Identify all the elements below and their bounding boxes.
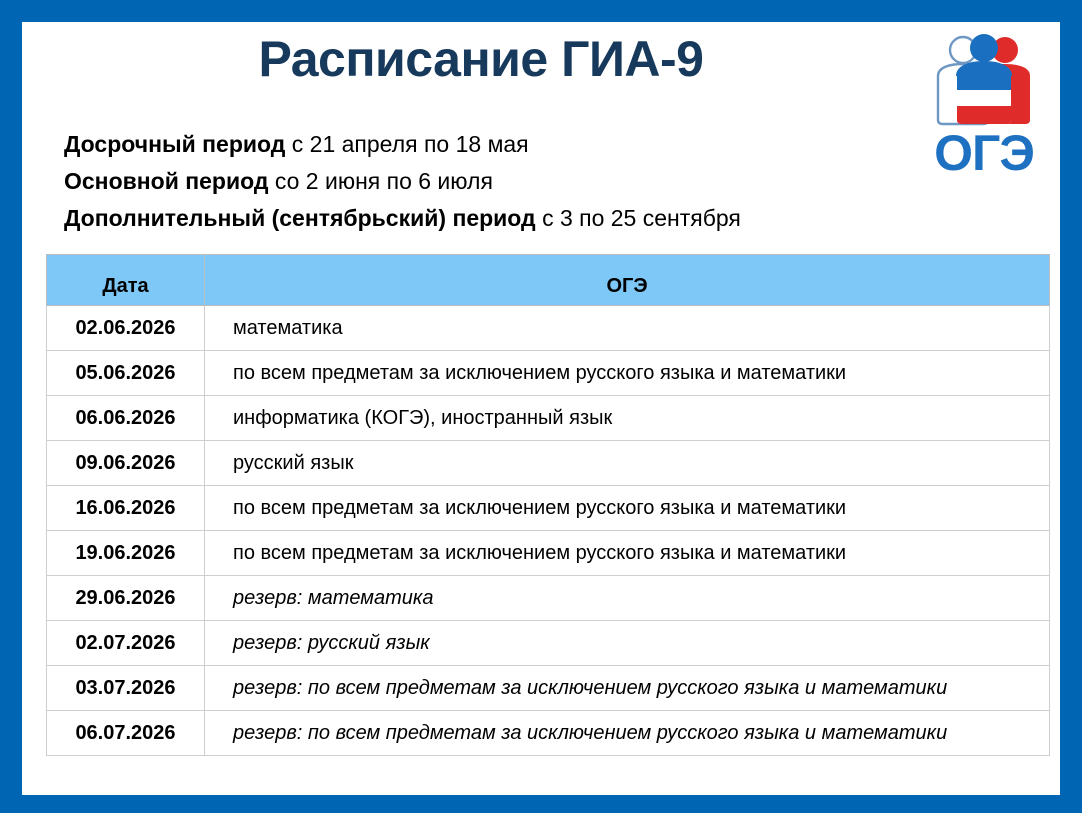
period-label: Дополнительный (сентябрьский) период	[64, 205, 536, 231]
cell-date: 16.06.2026	[47, 486, 205, 531]
period-line: Досрочный период с 21 апреля по 18 мая	[64, 126, 741, 163]
cell-date: 09.06.2026	[47, 441, 205, 486]
oge-wordmark: ОГЭ	[924, 124, 1044, 182]
period-label: Досрочный период	[64, 131, 285, 157]
cell-exam: резерв: по всем предметам за исключением…	[205, 711, 1050, 756]
table-row: 06.06.2026информатика (КОГЭ), иностранны…	[47, 396, 1050, 441]
cell-exam: информатика (КОГЭ), иностранный язык	[205, 396, 1050, 441]
cell-exam: русский язык	[205, 441, 1050, 486]
table-row: 19.06.2026по всем предметам за исключени…	[47, 531, 1050, 576]
period-value: со 2 июня по 6 июля	[275, 168, 493, 194]
table-row: 16.06.2026по всем предметам за исключени…	[47, 486, 1050, 531]
schedule-table: Дата ОГЭ 02.06.2026математика05.06.2026п…	[46, 254, 1050, 756]
table-body: 02.06.2026математика05.06.2026по всем пр…	[47, 306, 1050, 756]
periods-list: Досрочный период с 21 апреля по 18 мая О…	[64, 126, 741, 237]
cell-date: 19.06.2026	[47, 531, 205, 576]
oge-emblem-icon	[926, 28, 1042, 128]
period-line: Основной период со 2 июня по 6 июля	[64, 163, 741, 200]
cell-exam: математика	[205, 306, 1050, 351]
period-value: с 3 по 25 сентября	[542, 205, 741, 231]
cell-exam: резерв: русский язык	[205, 621, 1050, 666]
poster-root: Расписание ГИА-9 Досрочный период с 21 а…	[0, 0, 1082, 813]
poster-header: Расписание ГИА-9 Досрочный период с 21 а…	[22, 22, 1060, 250]
cell-date: 29.06.2026	[47, 576, 205, 621]
cell-date: 06.07.2026	[47, 711, 205, 756]
period-value: с 21 апреля по 18 мая	[292, 131, 529, 157]
cell-date: 02.07.2026	[47, 621, 205, 666]
table-row: 05.06.2026по всем предметам за исключени…	[47, 351, 1050, 396]
page-title: Расписание ГИА-9	[22, 30, 1060, 88]
table-row: 02.06.2026математика	[47, 306, 1050, 351]
table-row: 09.06.2026русский язык	[47, 441, 1050, 486]
schedule-table-wrap: Дата ОГЭ 02.06.2026математика05.06.2026п…	[46, 254, 1050, 756]
cell-exam: по всем предметам за исключением русског…	[205, 351, 1050, 396]
cell-exam: по всем предметам за исключением русског…	[205, 486, 1050, 531]
column-header-date: Дата	[47, 255, 205, 306]
period-line: Дополнительный (сентябрьский) период с 3…	[64, 200, 741, 237]
cell-exam: резерв: по всем предметам за исключением…	[205, 666, 1050, 711]
cell-date: 02.06.2026	[47, 306, 205, 351]
column-header-oge: ОГЭ	[205, 255, 1050, 306]
table-row: 29.06.2026резерв: математика	[47, 576, 1050, 621]
cell-date: 05.06.2026	[47, 351, 205, 396]
cell-date: 03.07.2026	[47, 666, 205, 711]
table-row: 03.07.2026резерв: по всем предметам за и…	[47, 666, 1050, 711]
cell-exam: резерв: математика	[205, 576, 1050, 621]
period-label: Основной период	[64, 168, 268, 194]
cell-exam: по всем предметам за исключением русског…	[205, 531, 1050, 576]
poster-body: Расписание ГИА-9 Досрочный период с 21 а…	[22, 22, 1060, 795]
oge-logo: ОГЭ	[924, 28, 1044, 193]
table-head: Дата ОГЭ	[47, 255, 1050, 306]
table-header-row: Дата ОГЭ	[47, 255, 1050, 306]
cell-date: 06.06.2026	[47, 396, 205, 441]
table-row: 06.07.2026резерв: по всем предметам за и…	[47, 711, 1050, 756]
table-row: 02.07.2026резерв: русский язык	[47, 621, 1050, 666]
